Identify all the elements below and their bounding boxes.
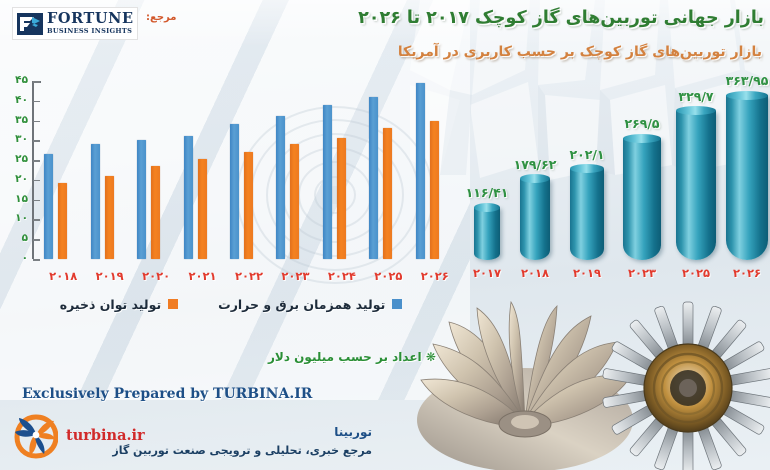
bar-standby: [151, 166, 160, 259]
infographic-canvas: FORTUNE BUSINESS INSIGHTS مرجع: بازار جه…: [0, 0, 770, 470]
bar-standby: [290, 144, 299, 259]
bar-chp: [276, 116, 285, 259]
y-axis-tick: [33, 101, 40, 103]
logo-subtitle: BUSINESS INSIGHTS: [47, 28, 134, 35]
bar-chp: [44, 154, 53, 259]
bar-group: [180, 81, 226, 259]
cylinder-body: [676, 111, 716, 260]
footer-brand-name: توربینا: [196, 425, 372, 439]
cylinder-body: [623, 138, 661, 260]
cylinder-body: [726, 95, 768, 260]
cylinder-value-label: ۳۶۳/۹۵: [711, 73, 770, 88]
bar-standby: [105, 176, 114, 259]
left-chart-plot-area: ۲۰۱۸۲۰۱۹۲۰۲۰۲۰۲۱۲۰۲۲۲۰۲۳۲۰۲۴۲۰۲۵۲۰۲۶: [40, 81, 458, 259]
cylinder-x-label: ۲۰۲۳: [618, 266, 666, 280]
cylinder-value-label: ۲۰۲/۱: [551, 147, 623, 162]
chart-legend: تولید همزمان برق و حرارت تولید توان ذخیر…: [0, 292, 462, 316]
y-axis-tick-label: ۳۵: [2, 114, 28, 126]
x-axis-label: ۲۰۲۴: [319, 269, 365, 283]
legend-label-chp: تولید همزمان برق و حرارت: [218, 297, 385, 312]
fortune-business-insights-logo: FORTUNE BUSINESS INSIGHTS: [12, 7, 138, 40]
cylinder-top-ellipse: [474, 203, 500, 212]
reference-label: مرجع:: [146, 12, 176, 23]
bar-standby: [58, 183, 67, 259]
cylinder-x-label: ۲۰۱۹: [563, 266, 611, 280]
bar-chp: [369, 97, 378, 259]
y-axis-tick: [33, 259, 40, 261]
y-axis-tick-label: ۲۵: [2, 153, 28, 165]
bar-group: [412, 81, 458, 259]
cylinder-value-label: ۳۲۹/۷: [660, 89, 732, 104]
bar-standby: [383, 128, 392, 259]
page-title: بازار جهانی توربین‌های گاز کوچک ۲۰۱۷ تا …: [358, 8, 764, 28]
y-axis-tick: [33, 219, 40, 221]
x-axis-label: ۲۰۲۱: [180, 269, 226, 283]
fbi-logo-icon: [17, 12, 43, 36]
x-axis-label: ۲۰۲۶: [412, 269, 458, 283]
x-axis-label: ۲۰۲۵: [365, 269, 411, 283]
bar-chp: [230, 124, 239, 259]
cylinder-body: [570, 169, 604, 260]
y-axis-tick: [33, 180, 40, 182]
legend-swatch-blue: [392, 299, 402, 309]
y-axis-tick-label: ۱۵: [2, 193, 28, 205]
logo-title: FORTUNE: [47, 12, 134, 27]
cylinder-bar: [726, 95, 768, 260]
cylinder-value-label: ۱۱۶/۴۱: [451, 185, 523, 200]
y-axis-tick-label: ۱۰: [2, 212, 28, 224]
cylinder-body: [520, 179, 550, 260]
cylinder-body: [474, 207, 500, 260]
bar-group: [87, 81, 133, 259]
y-axis-tick-label: ۰: [2, 252, 28, 264]
background-turbine-rotor-image: [600, 300, 770, 470]
cylinder-bar: [623, 138, 661, 260]
y-axis-tick-label: ۲۰: [2, 173, 28, 185]
bar-chp: [137, 140, 146, 259]
x-axis-label: ۲۰۲۲: [226, 269, 272, 283]
legend-item-standby: تولید توان ذخیره: [60, 297, 178, 312]
legend-label-standby: تولید توان ذخیره: [60, 297, 161, 312]
cylinder-bar: [474, 207, 500, 260]
bar-standby: [337, 138, 346, 259]
cylinder-bar: [520, 179, 550, 260]
cylinder-top-ellipse: [726, 91, 768, 100]
bar-chp: [416, 83, 425, 259]
cylinder-x-label: ۲۰۲۶: [723, 266, 770, 280]
bar-chp: [91, 144, 100, 259]
x-axis-label: ۲۰۲۰: [133, 269, 179, 283]
page-subtitle: بازار توربین‌های گاز کوچک بر حسب کاربری …: [398, 44, 762, 60]
y-axis-tick-label: ۴۰: [2, 94, 28, 106]
y-axis-tick: [33, 121, 40, 123]
y-axis-tick: [33, 81, 40, 83]
cylinder-top-ellipse: [623, 134, 661, 143]
us-application-bar-chart: ۴۵۴۰۳۵۳۰۲۵۲۰۱۵۱۰۵۰ ۲۰۱۸۲۰۱۹۲۰۲۰۲۰۲۱۲۰۲۲۲…: [0, 72, 462, 272]
bar-group: [226, 81, 272, 259]
y-axis-tick-label: ۳۰: [2, 133, 28, 145]
prepared-by-text: Exclusively Prepared by TURBINA.IR: [22, 386, 312, 402]
x-axis-label: ۲۰۱۹: [87, 269, 133, 283]
y-axis-tick-label: ۴۵: [2, 74, 28, 86]
cylinder-bar: [676, 111, 716, 260]
cylinder-value-label: ۲۶۹/۵: [606, 116, 678, 131]
cylinder-top-ellipse: [570, 164, 604, 173]
cylinder-x-label: ۲۰۱۷: [463, 266, 511, 280]
legend-swatch-orange: [168, 299, 178, 309]
footer-site-url[interactable]: turbina.ir: [66, 427, 145, 444]
x-axis-label: ۲۰۲۳: [272, 269, 318, 283]
bar-group: [40, 81, 86, 259]
cylinder-x-label: ۲۰۱۸: [511, 266, 559, 280]
bar-group: [133, 81, 179, 259]
global-market-cylinder-chart: ۱۱۶/۴۱۲۰۱۷۱۷۹/۶۲۲۰۱۸۲۰۲/۱۲۰۱۹۲۶۹/۵۲۰۲۳۳۲…: [468, 60, 770, 282]
bar-standby: [244, 152, 253, 259]
y-axis-tick: [33, 200, 40, 202]
bar-standby: [430, 121, 439, 259]
footer-description: مرجع خبری، تحلیلی و ترویجی صنعت توربین گ…: [46, 444, 372, 457]
y-axis-tick: [33, 140, 40, 142]
bar-group: [319, 81, 365, 259]
bar-group: [365, 81, 411, 259]
y-axis-tick: [33, 160, 40, 162]
bar-chp: [184, 136, 193, 259]
cylinder-bar: [570, 169, 604, 260]
units-note: ❋ اعداد بر حسب میلیون دلار: [268, 350, 436, 364]
y-axis-line: [32, 81, 34, 259]
legend-item-chp: تولید همزمان برق و حرارت: [218, 297, 402, 312]
bar-chp: [323, 105, 332, 259]
bar-group: [272, 81, 318, 259]
y-axis-tick-label: ۵: [2, 232, 28, 244]
bar-standby: [198, 159, 207, 259]
cylinder-x-label: ۲۰۲۵: [672, 266, 720, 280]
y-axis-tick: [33, 239, 40, 241]
x-axis-label: ۲۰۱۸: [40, 269, 86, 283]
